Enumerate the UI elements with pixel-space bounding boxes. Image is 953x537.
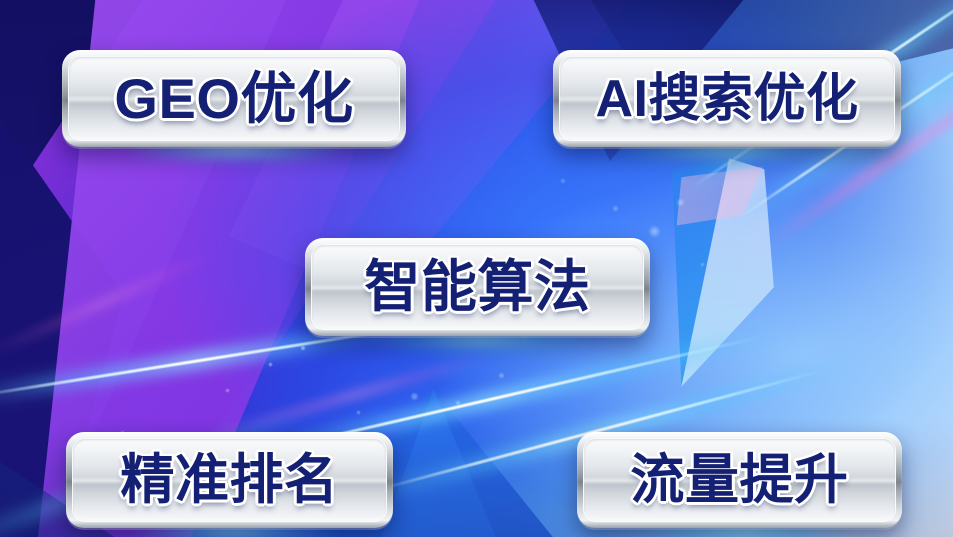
bokeh-particle bbox=[356, 410, 361, 415]
plate-inner-surface: 流量提升 bbox=[583, 438, 896, 522]
bokeh-particle bbox=[612, 205, 619, 212]
plate-label-traffic-growth: 流量提升 bbox=[630, 453, 848, 507]
bokeh-particle bbox=[648, 225, 661, 238]
plate-inner-surface: AI搜索优化 bbox=[559, 56, 895, 141]
plate-intelligent-algorithm[interactable]: 智能算法 bbox=[305, 238, 650, 336]
plate-geo-optimization[interactable]: GEO优化 bbox=[62, 50, 406, 147]
plate-label-ai-search-optimization: AI搜索优化 bbox=[595, 73, 858, 125]
bokeh-particle bbox=[410, 392, 419, 401]
bokeh-particle bbox=[560, 178, 566, 184]
magenta-streak-3 bbox=[0, 247, 220, 360]
bokeh-particle bbox=[225, 388, 230, 393]
plate-ai-search-optimization[interactable]: AI搜索优化 bbox=[553, 50, 901, 147]
plate-inner-surface: GEO优化 bbox=[68, 56, 400, 141]
plate-label-intelligent-algorithm: 智能算法 bbox=[364, 259, 590, 315]
bokeh-particle bbox=[498, 372, 505, 379]
poster-canvas: GEO优化 AI搜索优化 智能算法 精准排名 流量提升 bbox=[0, 0, 953, 537]
plate-precise-ranking[interactable]: 精准排名 bbox=[66, 432, 393, 528]
plate-inner-surface: 智能算法 bbox=[311, 244, 644, 330]
plate-label-geo-optimization: GEO优化 bbox=[114, 71, 353, 127]
plate-label-precise-ranking: 精准排名 bbox=[120, 453, 338, 507]
bokeh-particle bbox=[700, 262, 705, 267]
plate-inner-surface: 精准排名 bbox=[72, 438, 387, 522]
plate-traffic-growth[interactable]: 流量提升 bbox=[577, 432, 902, 528]
bokeh-particle bbox=[268, 362, 273, 367]
